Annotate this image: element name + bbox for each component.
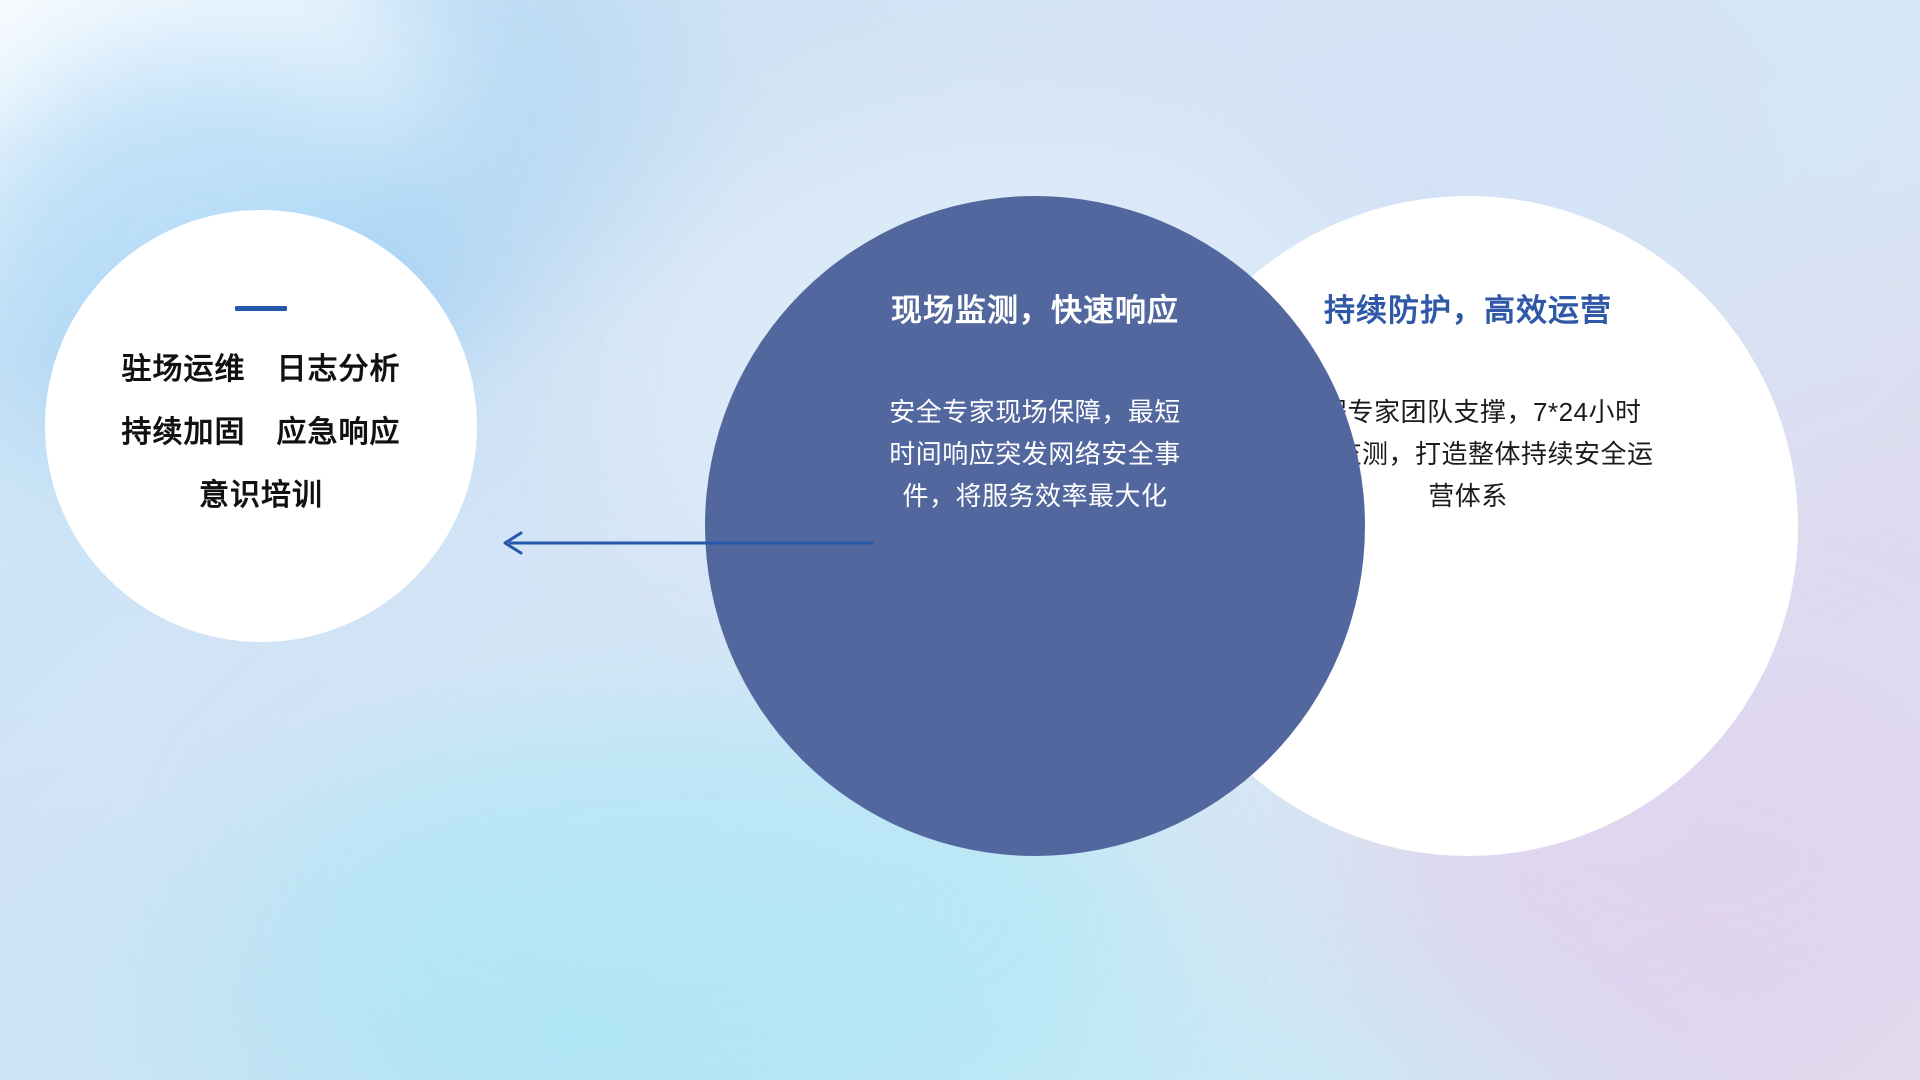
capability-line-1: 驻场运维 日志分析: [122, 355, 401, 385]
continuous-protection-heading: 持续防护，高效运营: [1324, 292, 1612, 329]
onsite-monitoring-circle[interactable]: 现场监测，快速响应 安全专家现场保障，最短时间响应突发网络安全事件，将服务效率最…: [705, 196, 1365, 856]
flow-arrow-left-icon: [495, 528, 875, 558]
slide-canvas: 驻场运维 日志分析 持续加固 应急响应 意识培训 持续防护，高效运营 远程专家团…: [0, 0, 1920, 1080]
capability-line-3: 意识培训: [199, 481, 323, 511]
onsite-monitoring-heading: 现场监测，快速响应: [891, 292, 1179, 329]
capabilities-circle[interactable]: 驻场运维 日志分析 持续加固 应急响应 意识培训: [45, 210, 477, 642]
onsite-monitoring-body: 安全专家现场保障，最短时间响应突发网络安全事件，将服务效率最大化: [885, 391, 1185, 517]
divider-dash-icon: [235, 306, 287, 311]
capability-line-2: 持续加固 应急响应: [122, 418, 401, 448]
